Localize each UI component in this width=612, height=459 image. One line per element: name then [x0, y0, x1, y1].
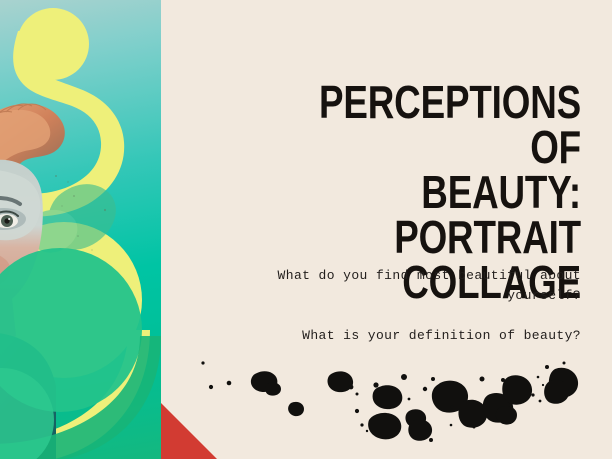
slide-canvas: Perceptions of Beauty: Portrait Collage …	[0, 0, 612, 459]
prompt-question-2: What is your definition of beauty?	[201, 326, 581, 346]
prompt-question-1: What do you find most beautiful about yo…	[201, 266, 581, 306]
content-area: Perceptions of Beauty: Portrait Collage …	[161, 0, 612, 459]
panel-speckles	[0, 0, 161, 459]
subtitle-block: What do you find most beautiful about yo…	[201, 266, 581, 346]
portrait-collage-image	[0, 0, 161, 459]
